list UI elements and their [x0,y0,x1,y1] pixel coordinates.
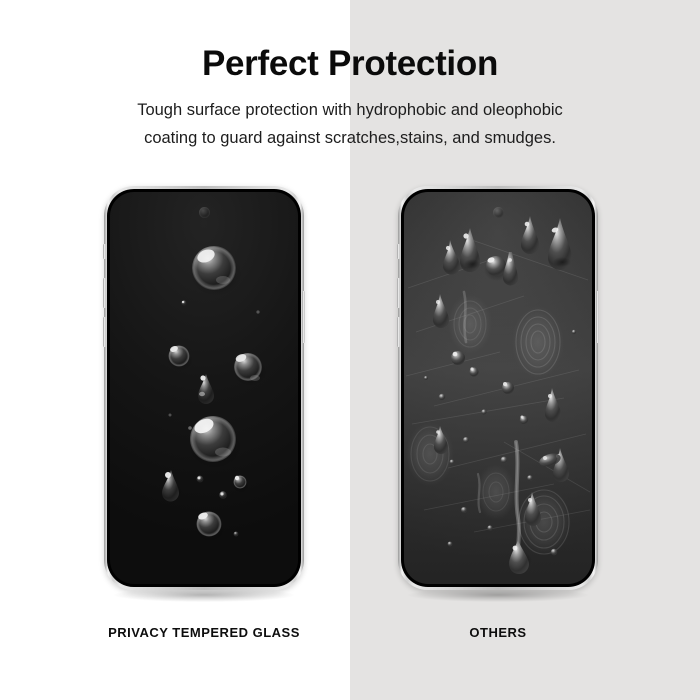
smudge-and-streak-layer [404,192,592,584]
phone-others [398,186,598,590]
phone-drop-shadow [114,588,294,602]
page-subtitle-line-2: coating to guard against scratches,stain… [0,124,700,152]
product-comparison-graphic: Perfect Protection Tough surface protect… [0,0,700,700]
power-button [596,291,599,343]
front-camera-icon [199,207,210,218]
phone-privacy-tempered-glass [104,186,304,590]
phone-drop-shadow [408,588,588,602]
page-subtitle-line-1: Tough surface protection with hydrophobi… [0,96,700,124]
water-beads-layer [110,192,298,584]
volume-down-button [103,317,106,347]
page-title: Perfect Protection [0,42,700,86]
caption-others: OTHERS [398,625,598,640]
caption-privacy-tempered-glass: PRIVACY TEMPERED GLASS [104,625,304,640]
volume-up-button [397,278,400,308]
front-camera-icon [493,207,504,218]
silent-switch-button [397,244,400,259]
volume-up-button [103,278,106,308]
volume-down-button [397,317,400,347]
silent-switch-button [103,244,106,259]
power-button [302,291,305,343]
screen-hydrophobic [110,192,298,584]
screen-uncoated [404,192,592,584]
